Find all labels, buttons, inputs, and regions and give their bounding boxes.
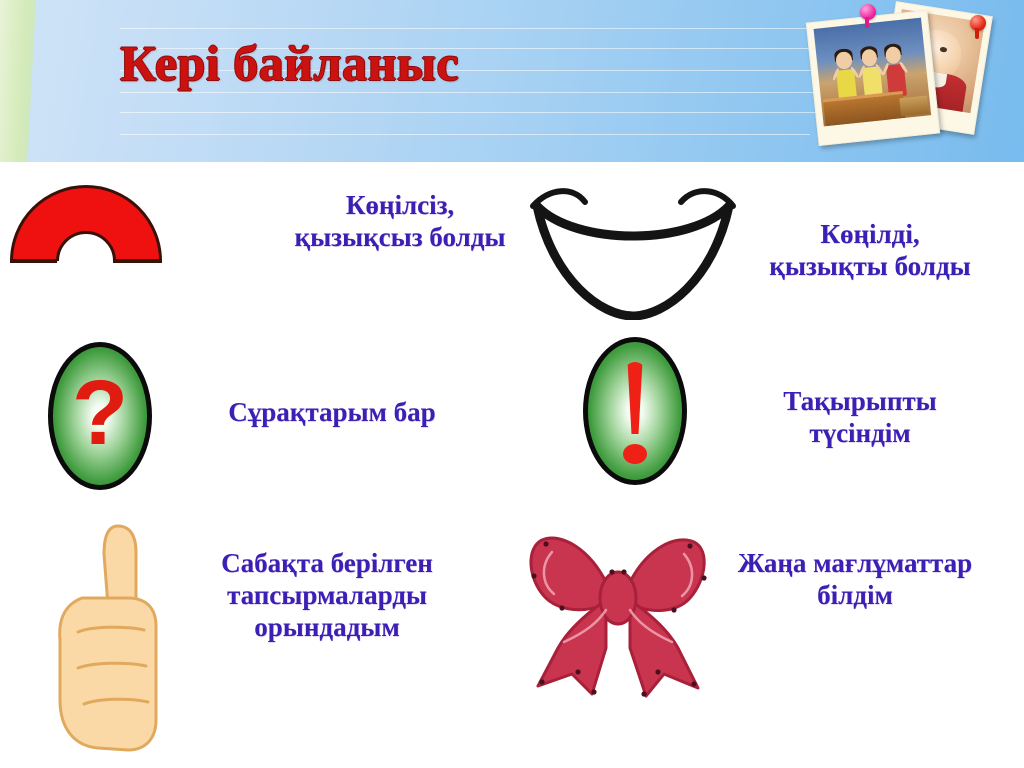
thumbs-up-icon[interactable]: [52, 514, 180, 752]
child-figure: [881, 45, 910, 98]
exclamation-stem: [624, 362, 646, 434]
exclamation-dot: [623, 444, 647, 464]
label-sad: Көңілсіз, қызықсыз болды: [250, 190, 550, 254]
label-new-knowledge: Жаңа мағлұматтар білдім: [700, 548, 1010, 612]
ribbon-bow-icon[interactable]: [520, 522, 716, 702]
exclamation-mark-oval-icon[interactable]: [583, 337, 687, 485]
slide-header: Кері байланыс: [0, 0, 1024, 162]
school-desk: [899, 96, 929, 116]
label-understood: Тақырыпты түсіндім: [730, 386, 990, 450]
question-mark-oval-icon[interactable]: ?: [48, 342, 152, 490]
pink-pushpin-icon: [860, 4, 876, 20]
slide: Кері байланыс: [0, 0, 1024, 768]
red-pushpin-icon: [970, 15, 986, 31]
label-tasks-done: Сабақта берілген тапсырмаларды орындадым: [172, 548, 482, 644]
question-mark-glyph: ?: [53, 347, 147, 485]
label-happy: Көңілді, қызықты болды: [722, 219, 1018, 283]
page-title: Кері байланыс: [120, 34, 459, 92]
photo-collage: [812, 2, 1024, 150]
feedback-options: Көңілсіз, қызықсыз болды Көңілді, қызықт…: [0, 162, 1024, 768]
label-questions: Сұрақтарым бар: [182, 397, 482, 429]
classroom-children-photo: [806, 10, 940, 146]
smiling-mouth-icon[interactable]: [515, 180, 751, 320]
sad-mouth-icon[interactable]: [10, 185, 162, 263]
